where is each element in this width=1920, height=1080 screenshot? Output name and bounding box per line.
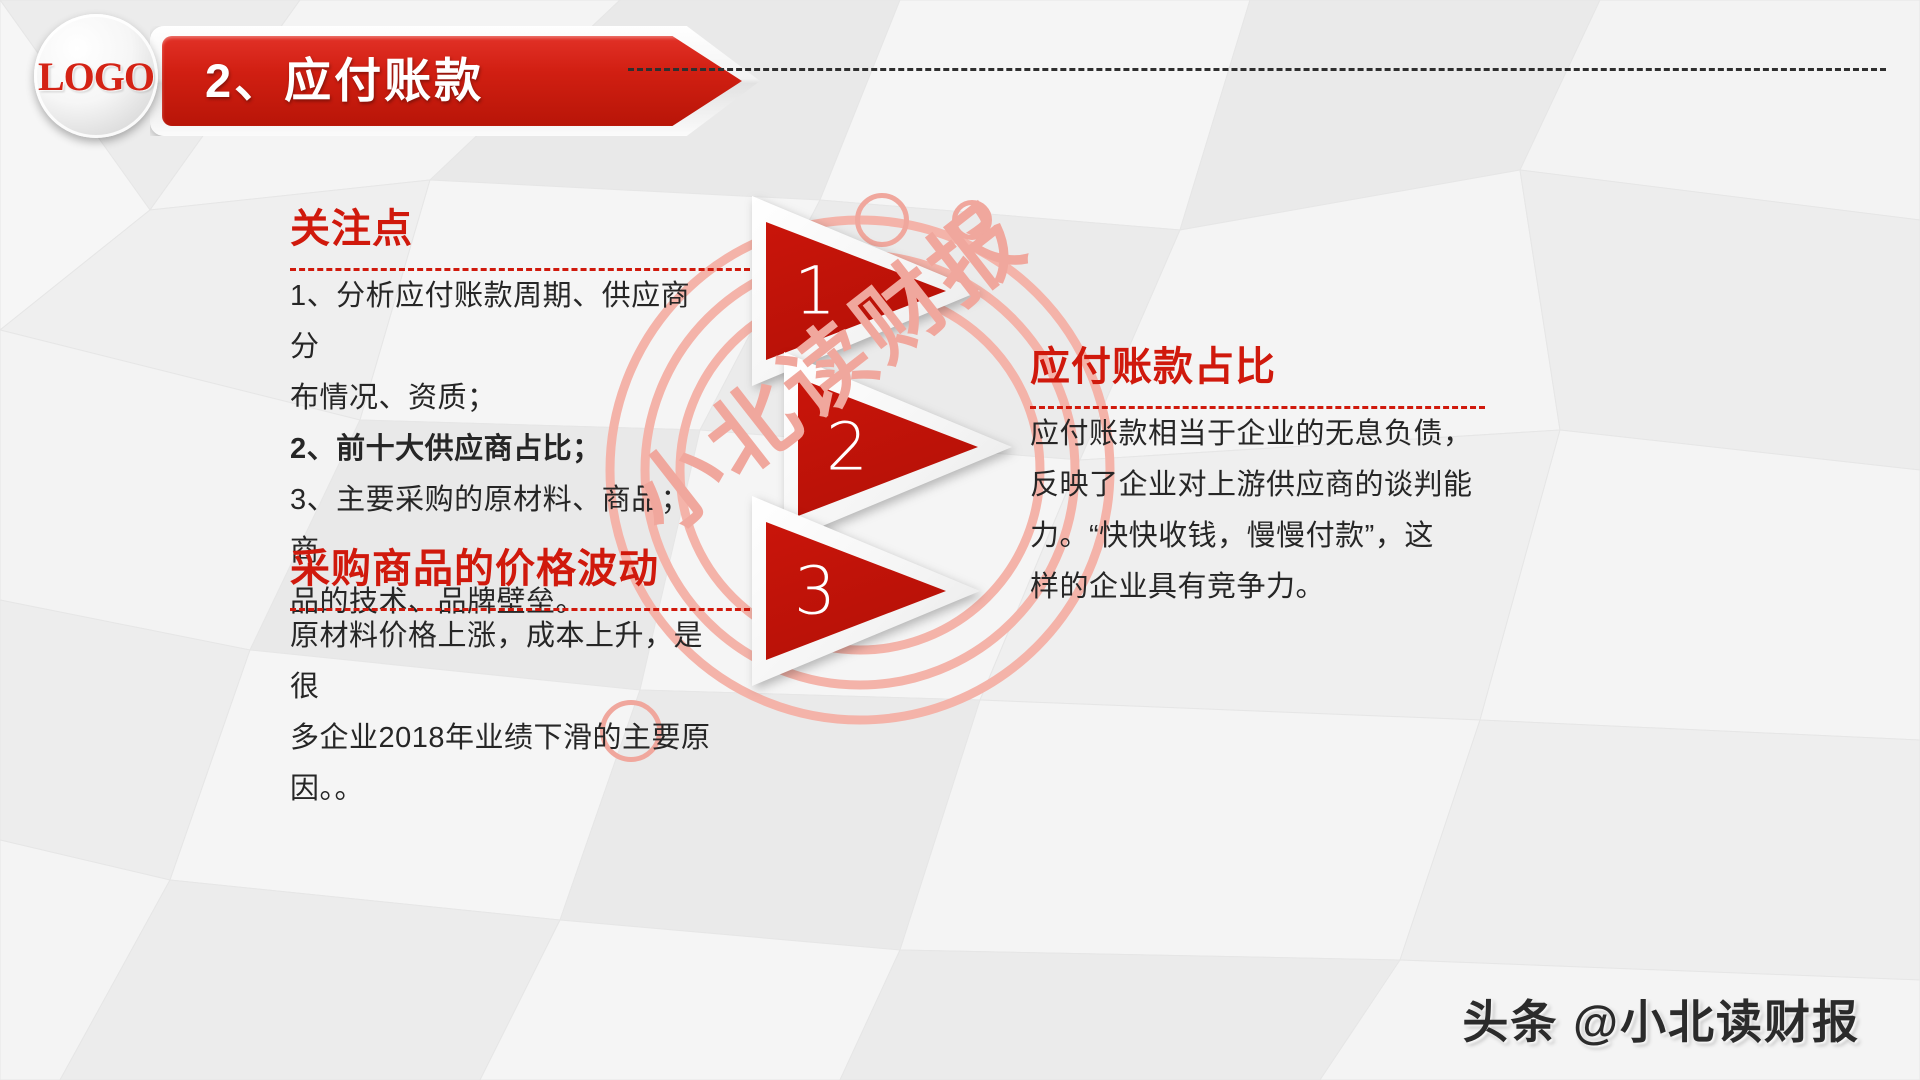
- slide-canvas: 2、应付账款 LOGO 关注点 1、分析应付账款周期、供应商分 布情况、资质； …: [0, 0, 1920, 1080]
- left-section1-heading: 关注点: [290, 196, 710, 254]
- body-line: 样的企业具有竞争力。: [1030, 562, 1485, 613]
- right-section-heading: 应付账款占比: [1030, 334, 1485, 392]
- footer-brand: 头条 @小北读财报: [1462, 986, 1860, 1052]
- triangle-stack: 1 2 3: [742, 196, 1042, 696]
- body-line: 因。。: [290, 764, 715, 815]
- slide-header: 2、应付账款 LOGO: [0, 0, 1920, 170]
- left-section2-body: 原材料价格上涨，成本上升，是很 多企业2018年业绩下滑的主要原 因。。: [290, 611, 715, 815]
- body-line: 反映了企业对上游供应商的谈判能: [1030, 460, 1485, 511]
- triangle-item-3: 3: [752, 496, 980, 686]
- page-title: 2、应付账款: [205, 44, 725, 118]
- triangle-number: 2: [826, 409, 868, 486]
- left-section-price-fluctuation: 采购商品的价格波动 原材料价格上涨，成本上升，是很 多企业2018年业绩下滑的主…: [290, 536, 715, 815]
- body-line: 布情况、资质；: [290, 373, 710, 424]
- right-section-body: 应付账款相当于企业的无息负债， 反映了企业对上游供应商的谈判能 力。“快快收钱，…: [1030, 409, 1485, 613]
- logo-badge: LOGO: [34, 14, 158, 138]
- body-line: 多企业2018年业绩下滑的主要原: [290, 713, 715, 764]
- logo-text: LOGO: [38, 53, 154, 100]
- triangle-number: 1: [794, 253, 836, 330]
- body-line: 应付账款相当于企业的无息负债，: [1030, 409, 1485, 460]
- right-section-payables-ratio: 应付账款占比 应付账款相当于企业的无息负债， 反映了企业对上游供应商的谈判能 力…: [1030, 334, 1485, 613]
- header-divider: [628, 68, 1886, 71]
- triangle-number: 3: [794, 553, 836, 630]
- body-line: 1、分析应付账款周期、供应商分: [290, 271, 710, 373]
- body-line: 力。“快快收钱，慢慢付款”，这: [1030, 511, 1485, 562]
- body-line: 原材料价格上涨，成本上升，是很: [290, 611, 715, 713]
- left-section2-heading: 采购商品的价格波动: [290, 536, 715, 594]
- body-line: 2、前十大供应商占比；: [290, 424, 710, 475]
